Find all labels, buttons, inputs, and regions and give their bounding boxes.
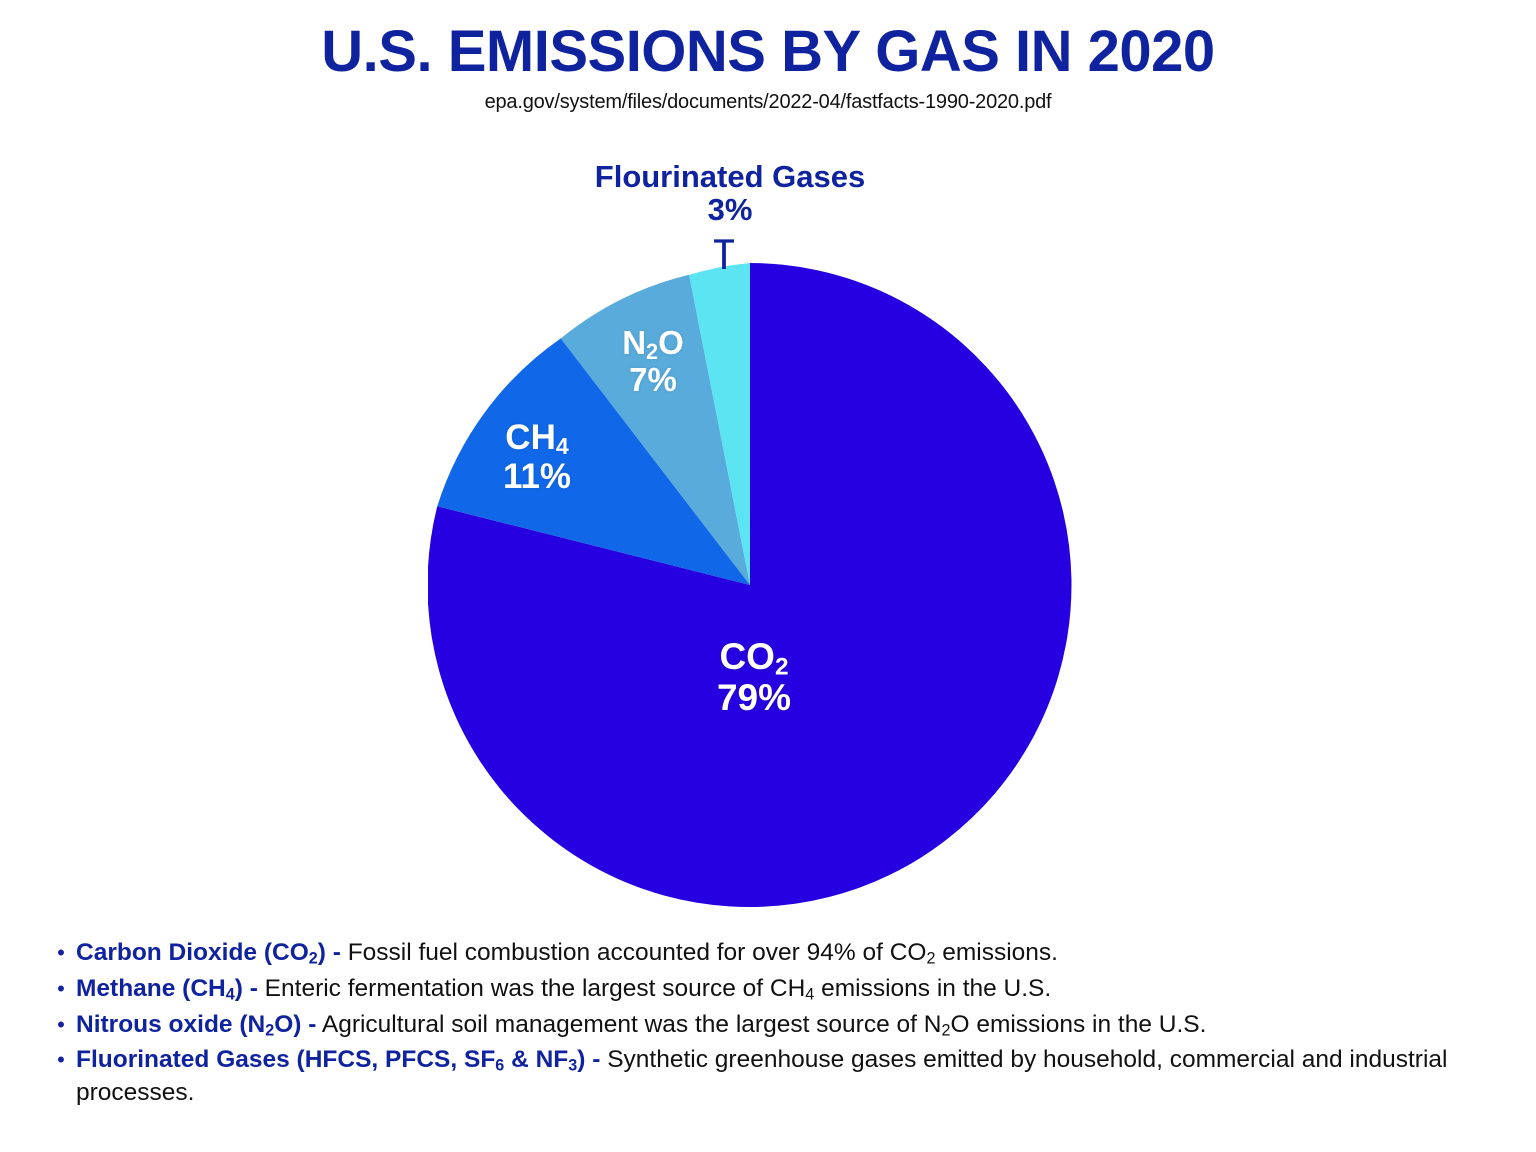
slice-label-co2: CO2 79% [674, 636, 834, 719]
list-item-body: Fossil fuel combustion accounted for ove… [341, 939, 1058, 966]
notes-list: • Carbon Dioxide (CO2) - Fossil fuel com… [46, 937, 1494, 1113]
list-item-term: Nitrous oxide (N2O) - [76, 1011, 316, 1038]
slice-label-ch4-value: 11% [462, 457, 612, 496]
chart-header: U.S. EMISSIONS BY GAS IN 2020 epa.gov/sy… [0, 0, 1536, 114]
slice-label-n2o: N2O 7% [583, 325, 723, 399]
slice-label-n2o-name: N2O [622, 324, 684, 361]
source-url-caption: epa.gov/system/files/documents/2022-04/f… [0, 83, 1536, 114]
slice-label-n2o-value: 7% [583, 362, 723, 399]
list-item-term: Methane (CH4) - [76, 975, 258, 1002]
list-item-body: Agricultural soil management was the lar… [316, 1011, 1206, 1038]
list-item-body: Enteric fermentation was the largest sou… [258, 975, 1051, 1002]
list-item-term: Carbon Dioxide (CO2) - [76, 939, 341, 966]
pie-chart: CO2 79% CH4 11% N2O 7% [428, 263, 1072, 908]
slice-label-co2-value: 79% [674, 677, 834, 718]
list-item: • Methane (CH4) - Enteric fermentation w… [46, 973, 1494, 1006]
list-item-term: Fluorinated Gases (HFCS, PFCS, SF6 & NF3… [76, 1046, 600, 1073]
slice-label-co2-name: CO2 [719, 636, 788, 677]
bullet-icon: • [46, 1009, 76, 1041]
slice-label-ch4: CH4 11% [462, 418, 612, 496]
callout-flourinated-gases: Flourinated Gases 3% [470, 160, 990, 227]
callout-flourinated-gases-name: Flourinated Gases [470, 160, 990, 193]
bullet-icon: • [46, 937, 76, 969]
callout-flourinated-gases-value: 3% [470, 193, 990, 226]
pie-chart-svg [428, 263, 1072, 908]
callout-leader-line-icon [712, 238, 736, 270]
list-item: • Nitrous oxide (N2O) - Agricultural soi… [46, 1009, 1494, 1042]
slice-label-ch4-name: CH4 [505, 418, 568, 457]
list-item: • Fluorinated Gases (HFCS, PFCS, SF6 & N… [46, 1044, 1494, 1110]
page-title: U.S. EMISSIONS BY GAS IN 2020 [0, 0, 1536, 83]
list-item: • Carbon Dioxide (CO2) - Fossil fuel com… [46, 937, 1494, 970]
bullet-icon: • [46, 973, 76, 1005]
bullet-icon: • [46, 1044, 76, 1076]
